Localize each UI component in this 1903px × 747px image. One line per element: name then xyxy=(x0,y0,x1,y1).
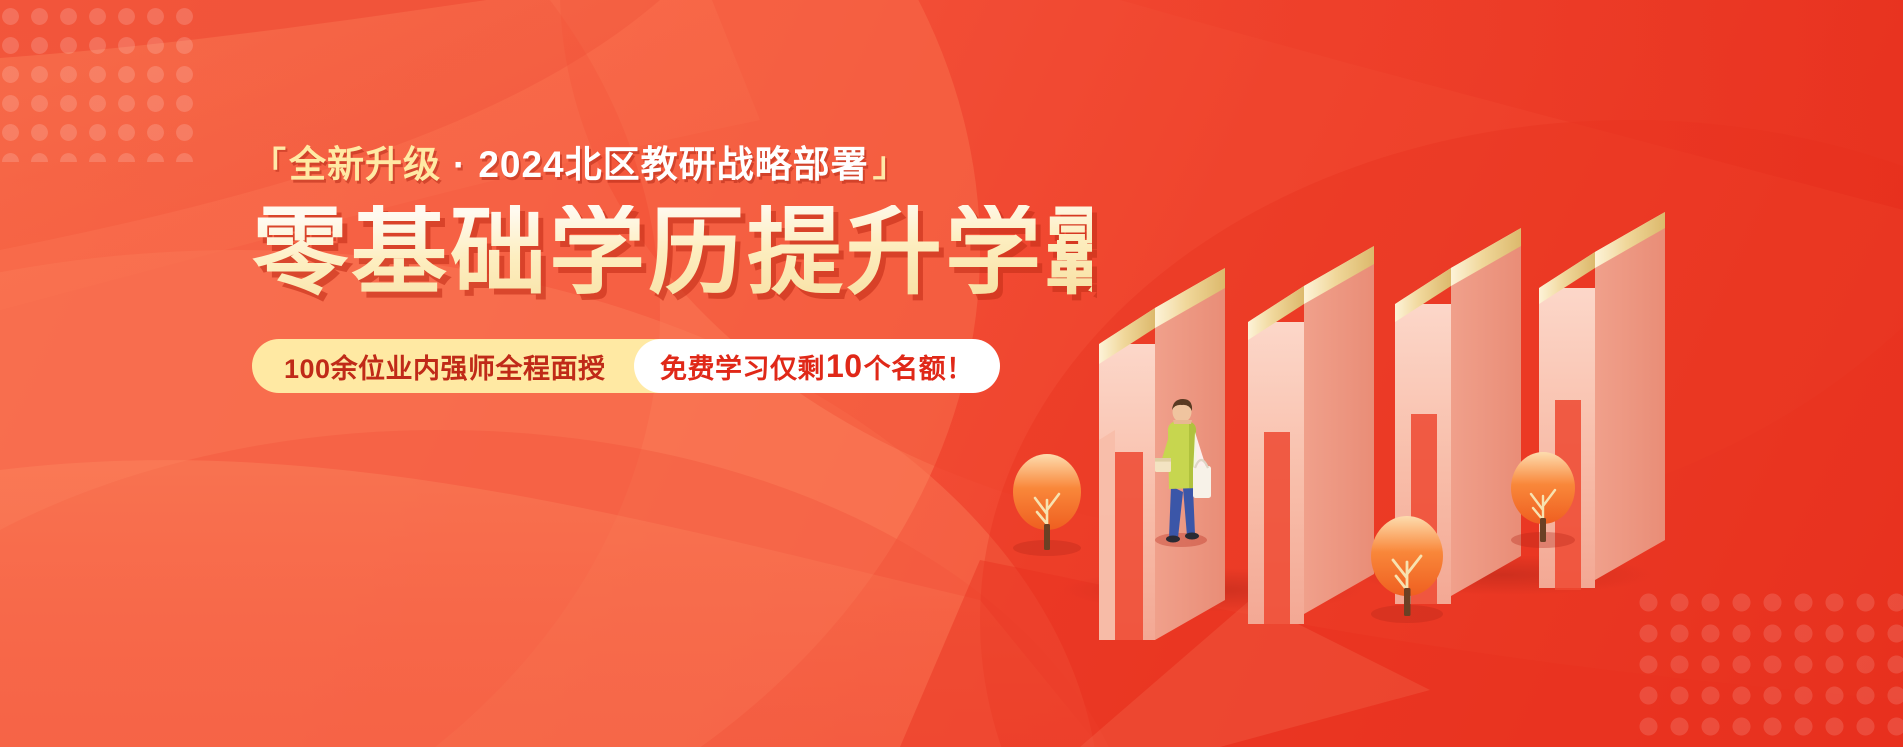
subtitle-separator-icon: · xyxy=(453,146,466,183)
page-title: 零基础学历提升学霸班 xyxy=(252,205,1092,301)
subtitle-rest: 2024北区教研战略部署 xyxy=(478,146,868,183)
promo-banner: 「 全新升级 · 2024北区教研战略部署 」 零基础学历提升学霸班 100余位… xyxy=(0,0,1903,747)
pill-seats-count: 10 xyxy=(825,348,864,385)
highlight-pills: 100余位业内强师全程面授 免费学习仅剩 10 个名额！ xyxy=(252,339,952,393)
subtitle-highlight: 全新升级 xyxy=(289,146,441,183)
pill-seats-suffix: 个名额！ xyxy=(864,347,974,386)
banner-subtitle: 「 全新升级 · 2024北区教研战略部署 」 xyxy=(252,146,1092,183)
pill-seats-remaining[interactable]: 免费学习仅剩 10 个名额！ xyxy=(634,339,1000,393)
bracket-close-icon: 」 xyxy=(873,148,908,182)
pill-instructors-label: 100余位业内强师全程面授 xyxy=(284,347,606,386)
pill-seats-prefix: 免费学习仅剩 xyxy=(660,347,825,386)
banner-copy: 「 全新升级 · 2024北区教研战略部署 」 零基础学历提升学霸班 100余位… xyxy=(252,146,1092,393)
bracket-open-icon: 「 xyxy=(252,148,287,182)
